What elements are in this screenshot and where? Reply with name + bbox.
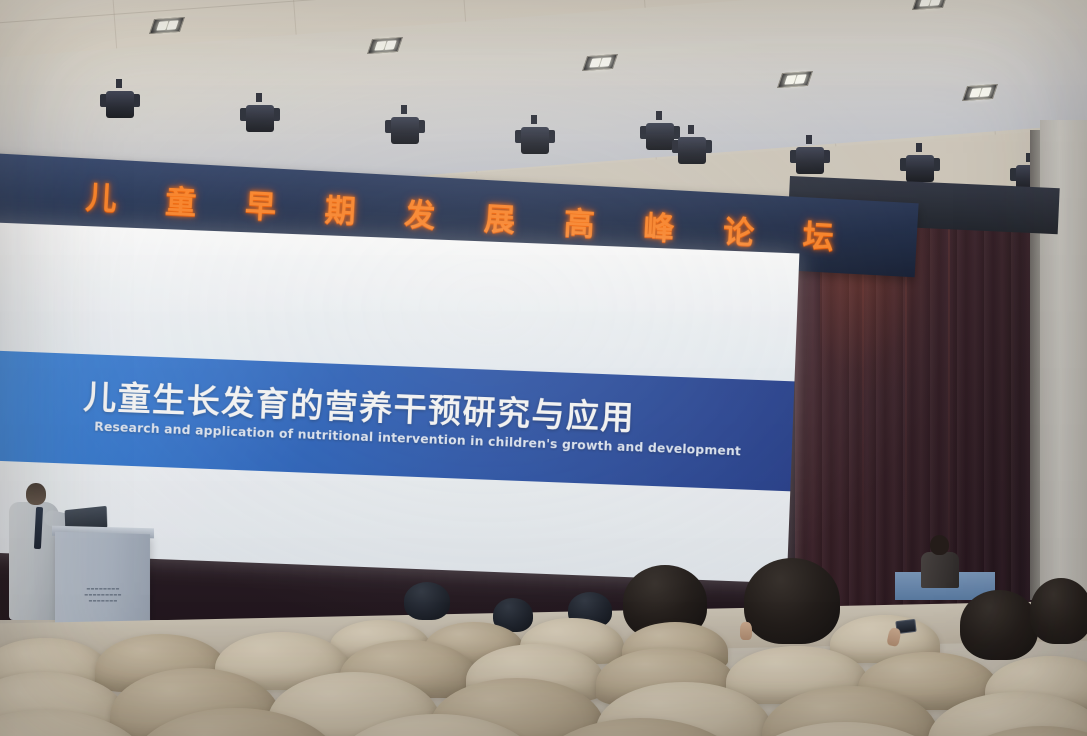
audience-hand	[740, 622, 752, 640]
presenter-head	[26, 483, 46, 505]
recessed-ceiling-light	[149, 17, 185, 34]
recessed-ceiling-light	[367, 37, 403, 54]
auditorium-photo: 儿 童 早 期 发 展 高 峰 论 坛 儿童生长发育的营养干预研究与应用 Res…	[0, 0, 1087, 736]
recessed-ceiling-light	[777, 71, 813, 88]
audience-head	[960, 590, 1038, 660]
recessed-ceiling-light	[962, 84, 998, 101]
stage-spotlight	[385, 112, 425, 146]
stage-spotlight	[515, 122, 555, 156]
moderator-head	[930, 535, 949, 555]
stage-spotlight	[240, 100, 280, 134]
stage-spotlight	[790, 142, 830, 176]
stage-spotlight	[900, 150, 940, 184]
stage-spotlight	[100, 86, 140, 120]
recessed-ceiling-light	[582, 54, 618, 71]
audience-head	[404, 582, 450, 620]
audience-seating	[0, 560, 1087, 736]
audience-head	[1030, 578, 1087, 644]
stage-spotlight	[672, 132, 712, 166]
audience-head	[744, 558, 840, 644]
